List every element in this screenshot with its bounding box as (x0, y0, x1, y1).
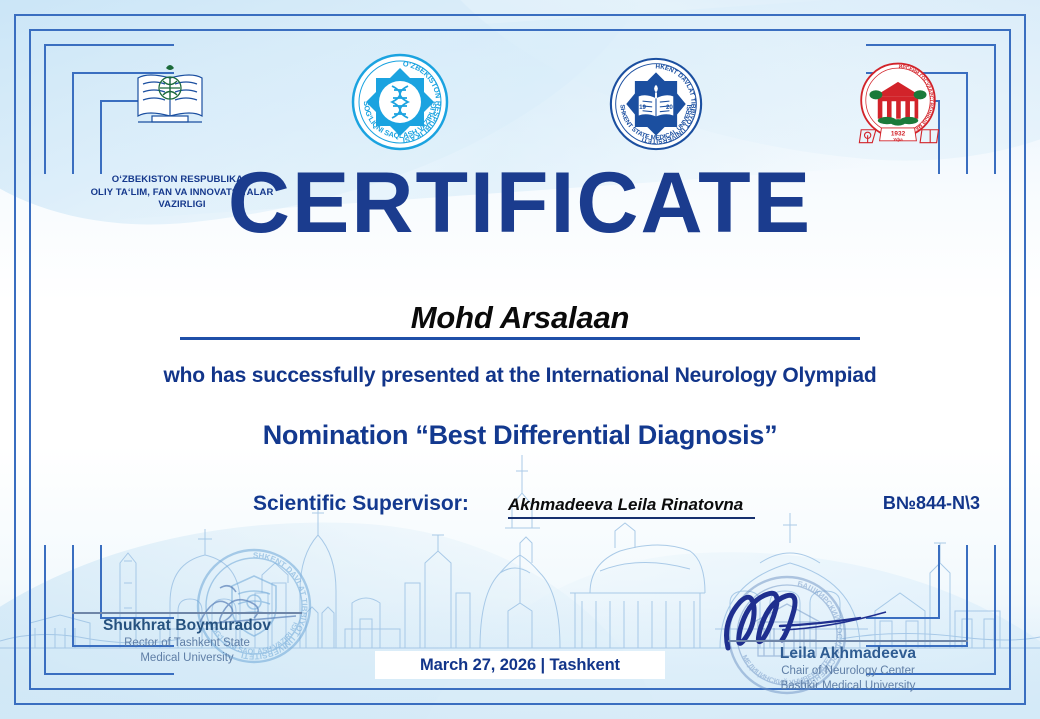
signature-block-right: Leila Akhmadeeva Chair of Neurology Cent… (728, 640, 968, 695)
signatory-name-right: Leila Akhmadeeva (728, 645, 968, 663)
supervisor-label: Scientific Supervisor: (253, 492, 469, 516)
signature-rule-left (72, 612, 302, 614)
signatory-role-left: Rector of Tashkent State Medical Univers… (72, 636, 302, 667)
date-location-band: March 27, 2026 | Tashkent (375, 651, 665, 679)
signatory-role-right: Chair of Neurology Center Bashkir Medica… (728, 664, 968, 695)
signatory-role-right-line-2: Bashkir Medical University (728, 679, 968, 695)
signatory-role-left-line-2: Medical University (72, 651, 302, 667)
svg-text:20: 20 (666, 104, 673, 111)
logo-bashkir-state-medical-university: БАШКИРСКИЙ ГОСУДАРСТВЕННЫЙ МЕДИЦИНСКИЙ (852, 58, 944, 150)
certificate-page: O‘ZBEKISTON RESPUBLIKASI OLIY TA‘LIM, FA… (0, 0, 1040, 719)
svg-text:Уфа: Уфа (893, 136, 903, 142)
signatory-role-left-line-1: Rector of Tashkent State (72, 636, 302, 652)
signature-block-left: Shukhrat Boymuradov Rector of Tashkent S… (72, 612, 302, 667)
open-book-emblem-icon (130, 62, 210, 132)
logo-ministry-health: O‘ZBEKISTON RESPUBLIKASI SOG‘LIQNI SAQLA… (350, 52, 450, 152)
recipient-name: Mohd Arsalaan (411, 300, 629, 336)
presented-line: who has successfully presented at the In… (0, 364, 1040, 388)
recipient-name-wrap: Mohd Arsalaan (0, 300, 1040, 336)
dna-star-seal-icon: O‘ZBEKISTON RESPUBLIKASI SOG‘LIQNI SAQLA… (350, 52, 450, 152)
signatory-name-left: Shukhrat Boymuradov (72, 617, 302, 635)
logo-row: O‘ZBEKISTON RESPUBLIKASI OLIY TA‘LIM, FA… (0, 52, 1040, 162)
signatory-role-right-line-1: Chair of Neurology Center (728, 664, 968, 680)
book-star-seal-icon: TOSHKENT DAVLAT TIBBIYOT UNIVERSITETI TA… (608, 56, 704, 152)
date-location-text: March 27, 2026 | Tashkent (420, 656, 620, 675)
logo-ministry-higher-education (130, 62, 210, 132)
university-building-seal-icon: БАШКИРСКИЙ ГОСУДАРСТВЕННЫЙ МЕДИЦИНСКИЙ (852, 58, 944, 150)
signature-rule-right (728, 640, 968, 642)
recipient-name-rule (180, 337, 860, 340)
page-title: CERTIFICATE (0, 160, 1040, 246)
certificate-number: B№844-N\3 (883, 493, 980, 514)
supervisor-name: Akhmadeeva Leila Rinatovna (508, 495, 755, 519)
logo-tashkent-state-medical-university: TOSHKENT DAVLAT TIBBIYOT UNIVERSITETI TA… (608, 56, 704, 152)
nomination-line: Nomination “Best Differential Diagnosis” (0, 420, 1040, 451)
svg-text:19: 19 (639, 104, 646, 111)
